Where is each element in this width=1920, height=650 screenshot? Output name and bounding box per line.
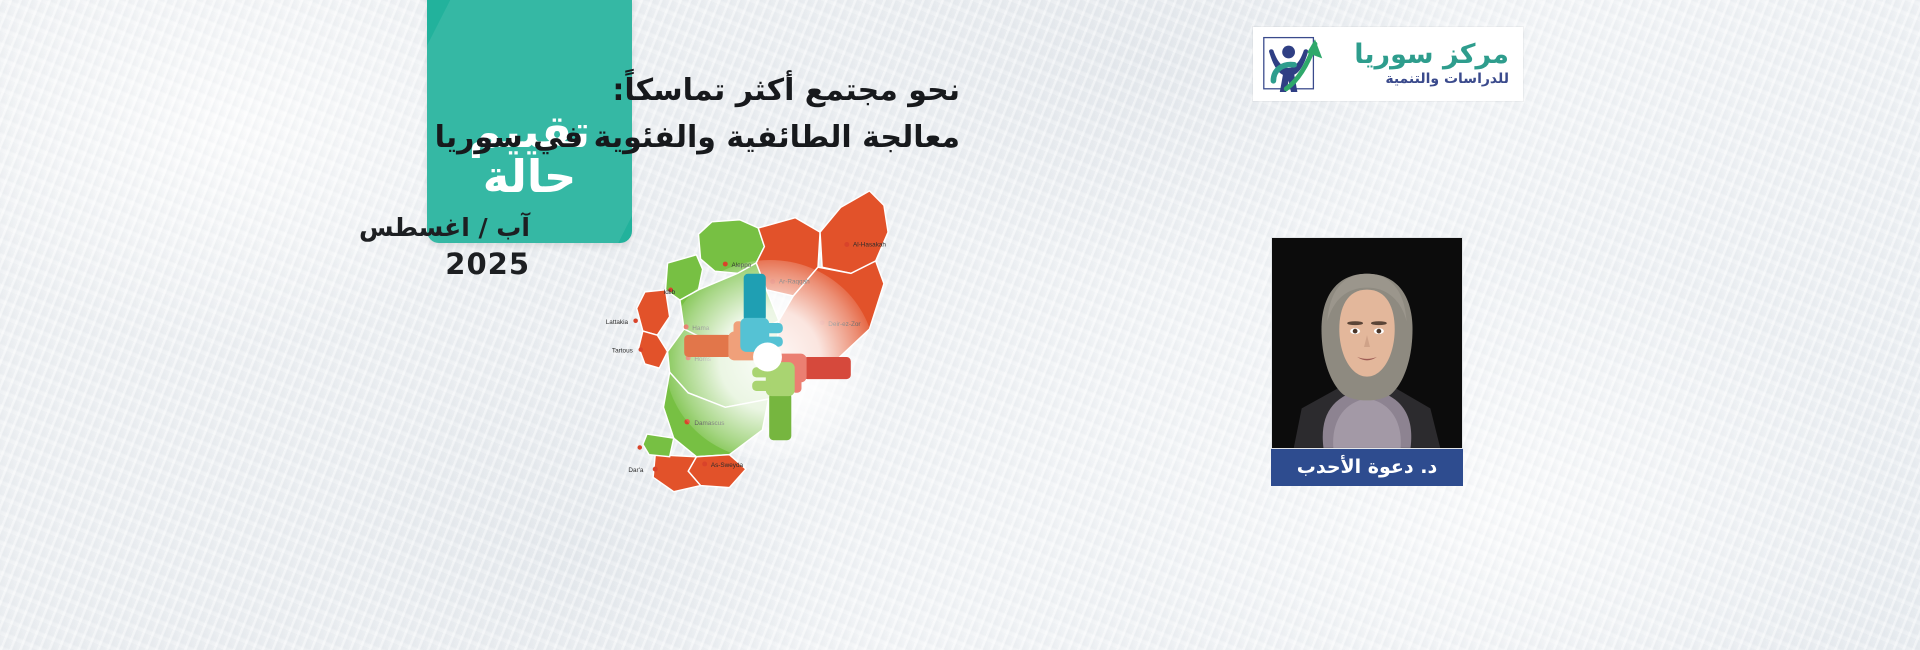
map-dot-quneitra [637, 445, 642, 450]
hands-center [753, 343, 782, 372]
publication-date: آب / اغسطس 2025 [330, 210, 530, 284]
map-dot-daraa [653, 467, 658, 472]
map-region-quneitra [643, 434, 674, 457]
syria-map: Aleppo Idlib Al-Hasakah Ar-Raqqah Deir-e… [565, 160, 935, 500]
org-name-sub: للدراسات والتنمية [1331, 72, 1509, 87]
map-label-al-hasakah: Al-Hasakah [853, 242, 886, 249]
map-label-lattakia: Lattakia [606, 319, 629, 326]
hand-top [740, 274, 783, 352]
title-line-1: نحو مجتمع أكثر تماسكاً: [440, 68, 960, 115]
unity-hands-icon [680, 272, 855, 442]
cover-banner: تقييم حالة آب / اغسطس 2025 نحو مجتمع أكث… [0, 0, 1920, 650]
map-label-aleppo: Aleppo [731, 262, 751, 269]
page-title: نحو مجتمع أكثر تماسكاً: معالجة الطائفية … [440, 68, 960, 161]
map-region-tartous [639, 331, 668, 368]
map-dot-tartous [639, 347, 644, 352]
org-name-main: مركز سوريا [1331, 41, 1509, 69]
logo-wordmark: مركز سوريا للدراسات والتنمية [1331, 41, 1515, 87]
organization-logo: مركز سوريا للدراسات والتنمية [1253, 27, 1523, 101]
author-name: د. دعوة الأحدب [1271, 449, 1463, 486]
logo-mark-icon [1259, 31, 1331, 97]
map-label-daraa: Dar'a [628, 467, 643, 474]
map-region-al-hasakah [820, 191, 888, 273]
map-dot-lattakia [633, 318, 638, 323]
map-dot-al-hasakah [844, 242, 849, 247]
map-dot-as-sweyda [702, 461, 707, 466]
map-label-as-sweyda: As-Sweyda [711, 462, 744, 469]
map-label-tartous: Tartous [612, 348, 633, 355]
title-line-2: معالجة الطائفية والفئوية في سوريا [440, 115, 960, 162]
author-block: د. دعوة الأحدب [1271, 237, 1463, 486]
date-month: آب / اغسطس [330, 210, 530, 245]
date-year: 2025 [330, 245, 530, 284]
map-label-idlib: Idlib [663, 289, 675, 296]
map-region-lattakia [637, 290, 670, 335]
author-photo [1271, 237, 1463, 449]
hand-bottom [752, 362, 795, 440]
map-dot-aleppo [723, 262, 728, 267]
